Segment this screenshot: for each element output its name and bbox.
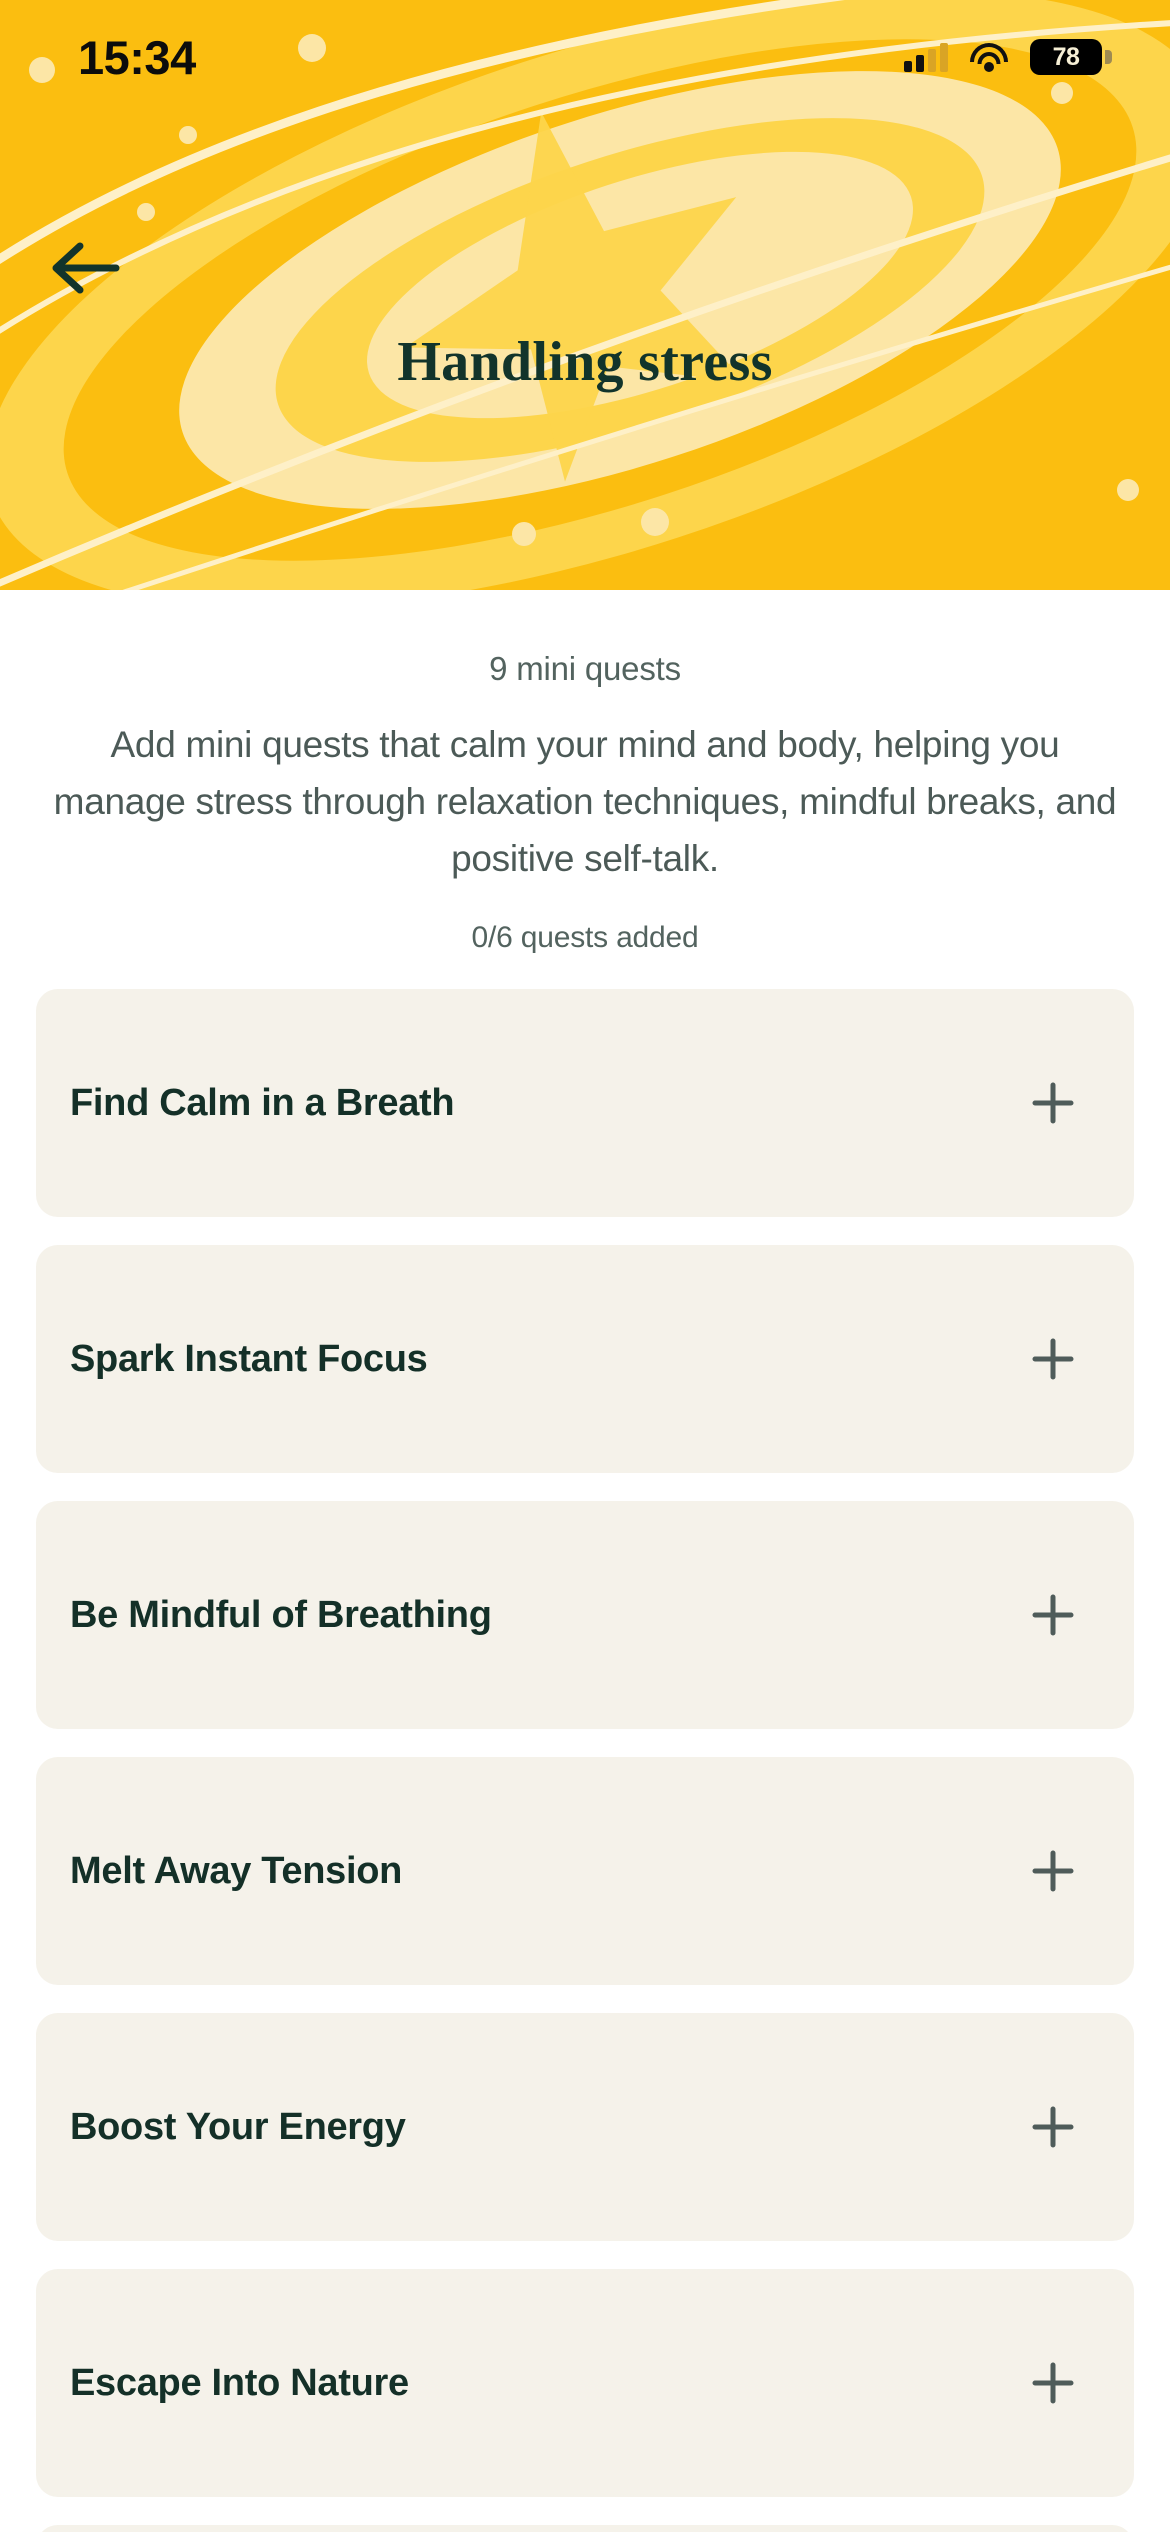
status-bar: 15:34 78 xyxy=(0,0,1170,110)
plus-icon[interactable] xyxy=(1030,2360,1076,2406)
plus-icon[interactable] xyxy=(1030,1080,1076,1126)
page-title: Handling stress xyxy=(0,330,1170,394)
page-header: 15:34 78 Handling stress xyxy=(0,0,1170,590)
quest-card[interactable]: Escape Into Nature xyxy=(36,2269,1134,2497)
plus-icon[interactable] xyxy=(1030,1336,1076,1382)
cellular-signal-icon xyxy=(904,42,948,72)
battery-icon: 78 xyxy=(1030,39,1112,75)
status-clock: 15:34 xyxy=(78,30,196,85)
plus-icon[interactable] xyxy=(1030,1848,1076,1894)
quest-card[interactable]: Lift Mood with Music xyxy=(36,2525,1134,2532)
quest-card[interactable]: Be Mindful of Breathing xyxy=(36,1501,1134,1729)
page-content: 9 mini quests Add mini quests that calm … xyxy=(0,590,1170,2532)
quest-title: Boost Your Energy xyxy=(70,2106,406,2149)
status-icon-group: 78 xyxy=(904,39,1112,75)
quest-card[interactable]: Melt Away Tension xyxy=(36,1757,1134,1985)
quest-title: Be Mindful of Breathing xyxy=(70,1594,492,1637)
quest-title: Find Calm in a Breath xyxy=(70,1082,454,1125)
back-arrow-icon xyxy=(48,240,124,296)
wifi-icon xyxy=(970,43,1008,71)
battery-level-label: 78 xyxy=(1053,43,1080,72)
quest-title: Melt Away Tension xyxy=(70,1850,402,1893)
quest-title: Escape Into Nature xyxy=(70,2362,409,2405)
page-description: Add mini quests that calm your mind and … xyxy=(36,688,1134,887)
quest-card[interactable]: Find Calm in a Breath xyxy=(36,989,1134,1217)
quests-added-status: 0/6 quests added xyxy=(36,887,1134,955)
plus-icon[interactable] xyxy=(1030,2104,1076,2150)
quest-title: Spark Instant Focus xyxy=(70,1338,428,1381)
quest-card[interactable]: Spark Instant Focus xyxy=(36,1245,1134,1473)
plus-icon[interactable] xyxy=(1030,1592,1076,1638)
quest-count-label: 9 mini quests xyxy=(36,590,1134,688)
back-button[interactable] xyxy=(48,240,124,296)
quest-card[interactable]: Boost Your Energy xyxy=(36,2013,1134,2241)
quest-list: Find Calm in a Breath Spark Instant Focu… xyxy=(36,989,1134,2532)
